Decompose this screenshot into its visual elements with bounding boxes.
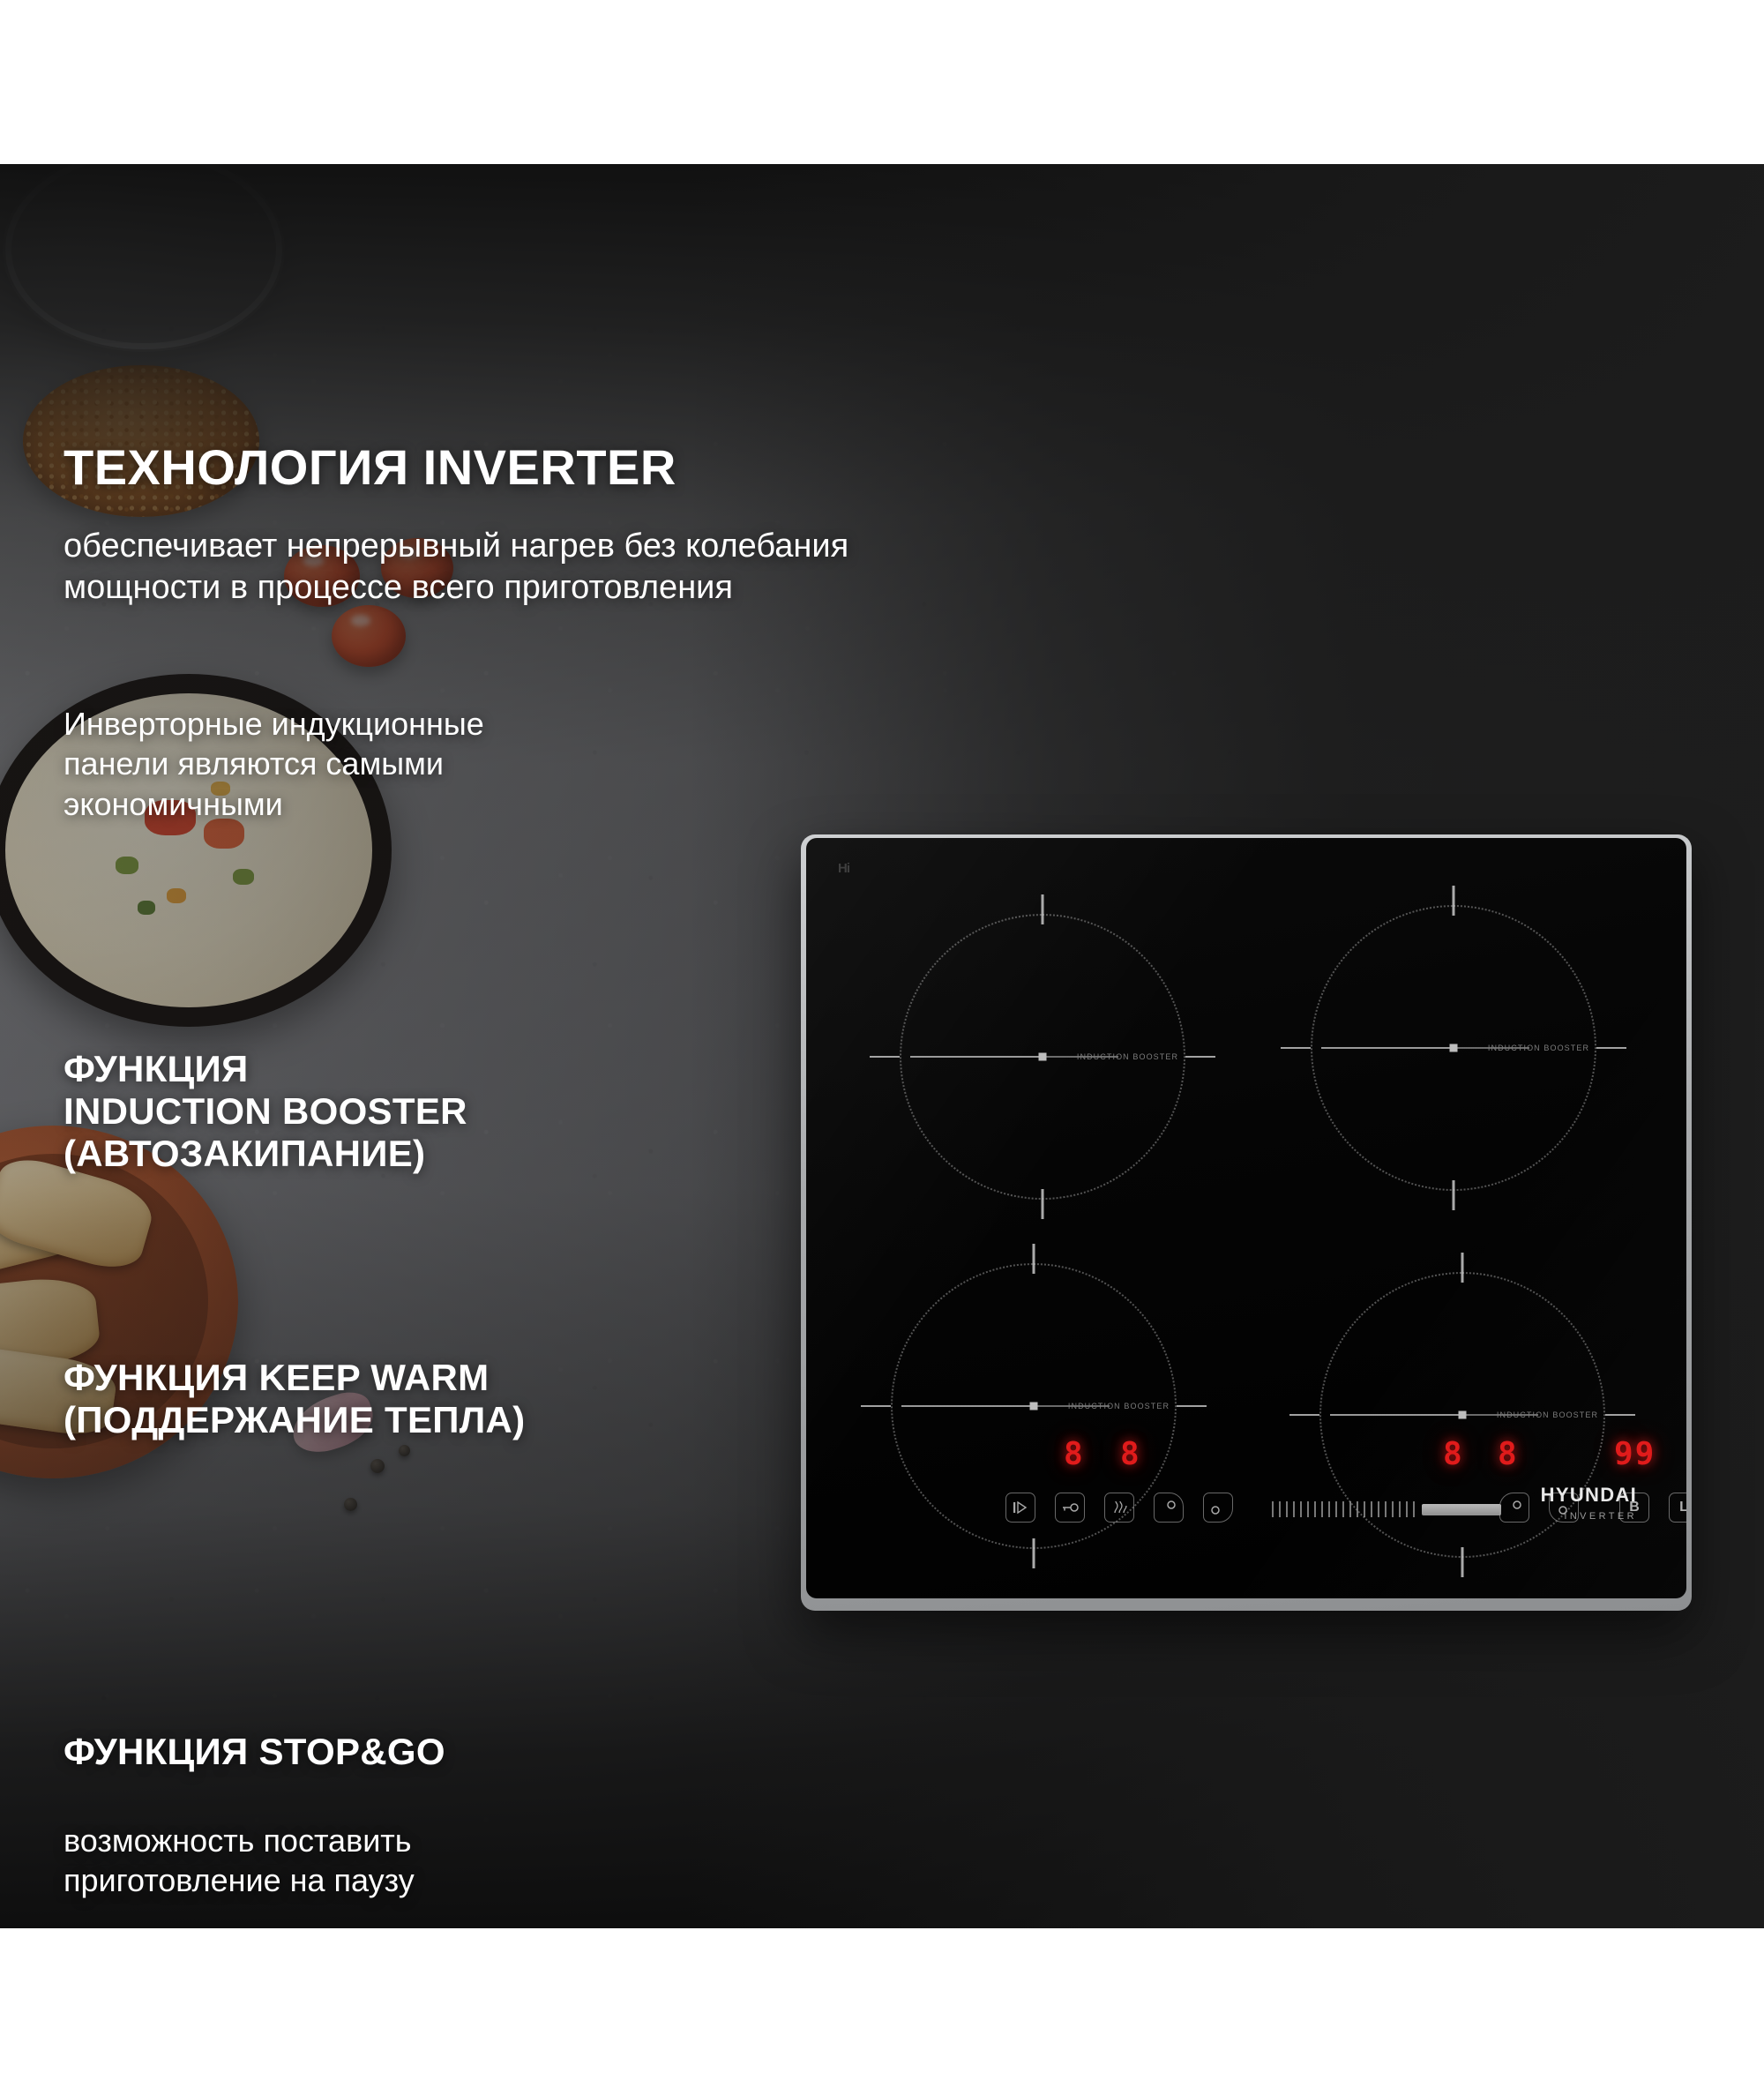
feature-keep-warm-line-2: (ПОДДЕРЖАНИЕ ТЕПЛА) <box>64 1399 822 1441</box>
feature-economy-line-3: экономичными <box>64 784 734 824</box>
zone-top-left-icon <box>1162 1500 1176 1515</box>
led-right-zone-a: 8 <box>1443 1436 1464 1472</box>
zone-select-top-left-button[interactable] <box>1154 1493 1184 1523</box>
headline-subtitle: обеспечивает непрерывный нагрев без коле… <box>64 526 1237 609</box>
zone-tick-top <box>1453 886 1455 916</box>
keep-warm-button[interactable] <box>1104 1493 1134 1523</box>
hob-corner-logo: Hi <box>838 861 849 876</box>
feature-economy: Инверторные индукционные панели являются… <box>64 704 734 824</box>
zone-tick-top <box>1033 1244 1035 1274</box>
zone-top-right-icon <box>1507 1500 1521 1515</box>
brand-logo: HYUNDAI INVERTER <box>1541 1485 1637 1522</box>
timer-button[interactable]: L <box>1669 1493 1686 1523</box>
feature-economy-line-2: панели являются самыми <box>64 744 734 783</box>
zone-tick-bottom <box>1453 1180 1455 1210</box>
led-timer-display: 99 <box>1614 1436 1656 1472</box>
brand-tagline: INVERTER <box>1541 1511 1637 1522</box>
zone-label: INDUCTION BOOSTER <box>1068 1402 1170 1410</box>
promo-banner: ТЕХНОЛОГИЯ INVERTER обеспечивает непреры… <box>0 164 1764 1928</box>
zone-label: INDUCTION BOOSTER <box>1077 1052 1178 1061</box>
zone-center-marker <box>1450 1044 1458 1052</box>
lock-button[interactable] <box>1055 1493 1085 1523</box>
zone-center-marker <box>1030 1403 1038 1410</box>
key-lock-icon <box>1061 1502 1079 1513</box>
timer-label: L <box>1679 1500 1686 1515</box>
stop-go-button[interactable] <box>1005 1493 1035 1523</box>
feature-stop-and-go-body: возможность поставить приготовление на п… <box>64 1821 681 1901</box>
feature-induction-booster-line-2: INDUCTION BOOSTER <box>64 1090 769 1133</box>
led-left-zone-a: 8 <box>1064 1436 1085 1472</box>
headline-subtitle-line-1: обеспечивает непрерывный нагрев без коле… <box>64 526 1237 567</box>
slider-level-indicator <box>1422 1504 1501 1515</box>
slider-ticks <box>1272 1501 1420 1517</box>
hob-glass-surface[interactable]: Hi INDUCTION BOOSTER IN <box>806 838 1686 1598</box>
page-title: ТЕХНОЛОГИЯ INVERTER <box>64 441 676 493</box>
induction-hob: Hi INDUCTION BOOSTER IN <box>801 834 1692 1611</box>
feature-keep-warm: ФУНКЦИЯ KEEP WARM (ПОДДЕРЖАНИЕ ТЕПЛА) <box>64 1357 822 1441</box>
feature-induction-booster-line-1: ФУНКЦИЯ <box>64 1048 769 1090</box>
led-right-zone-b: 8 <box>1498 1436 1519 1472</box>
zone-label: INDUCTION BOOSTER <box>1497 1410 1598 1419</box>
play-pause-icon <box>1013 1501 1028 1514</box>
feature-induction-booster: ФУНКЦИЯ INDUCTION BOOSTER (АВТОЗАКИПАНИЕ… <box>64 1048 769 1175</box>
brand-name: HYUNDAI <box>1541 1485 1637 1505</box>
led-left-zone-b: 8 <box>1120 1436 1141 1472</box>
cooking-zone-top-left[interactable]: INDUCTION BOOSTER <box>900 914 1185 1200</box>
infographic-page: ТЕХНОЛОГИЯ INVERTER обеспечивает непреры… <box>0 0 1764 2095</box>
zone-tick-top <box>1461 1253 1464 1283</box>
led-display-row: 8 8 8 8 99 <box>806 1434 1686 1480</box>
zone-tick-bottom <box>1042 1189 1044 1219</box>
cooking-zone-top-right[interactable]: INDUCTION BOOSTER <box>1311 905 1596 1191</box>
zone-select-top-right-button[interactable] <box>1499 1493 1529 1523</box>
zone-label: INDUCTION BOOSTER <box>1488 1044 1589 1052</box>
feature-induction-booster-line-3: (АВТОЗАКИПАНИЕ) <box>64 1133 769 1175</box>
zone-center-marker <box>1459 1411 1467 1419</box>
feature-stop-and-go-title: ФУНКЦИЯ STOP&GO <box>64 1731 445 1773</box>
feature-stop-and-go-line-2: приготовление на паузу <box>64 1860 681 1900</box>
zone-bottom-left-icon <box>1211 1500 1225 1515</box>
zone-tick-top <box>1042 894 1044 924</box>
feature-economy-line-1: Инверторные индукционные <box>64 704 734 744</box>
headline-subtitle-line-2: мощности в процессе всего приготовления <box>64 567 1237 609</box>
zone-center-marker <box>1039 1053 1047 1061</box>
feature-stop-and-go-line-1: возможность поставить <box>64 1821 681 1860</box>
control-panel: 8 8 8 8 99 <box>806 1434 1686 1567</box>
feature-keep-warm-line-1: ФУНКЦИЯ KEEP WARM <box>64 1357 822 1399</box>
heat-waves-icon <box>1111 1500 1127 1515</box>
zone-select-bottom-left-button[interactable] <box>1203 1493 1233 1523</box>
power-slider[interactable] <box>1272 1501 1501 1517</box>
